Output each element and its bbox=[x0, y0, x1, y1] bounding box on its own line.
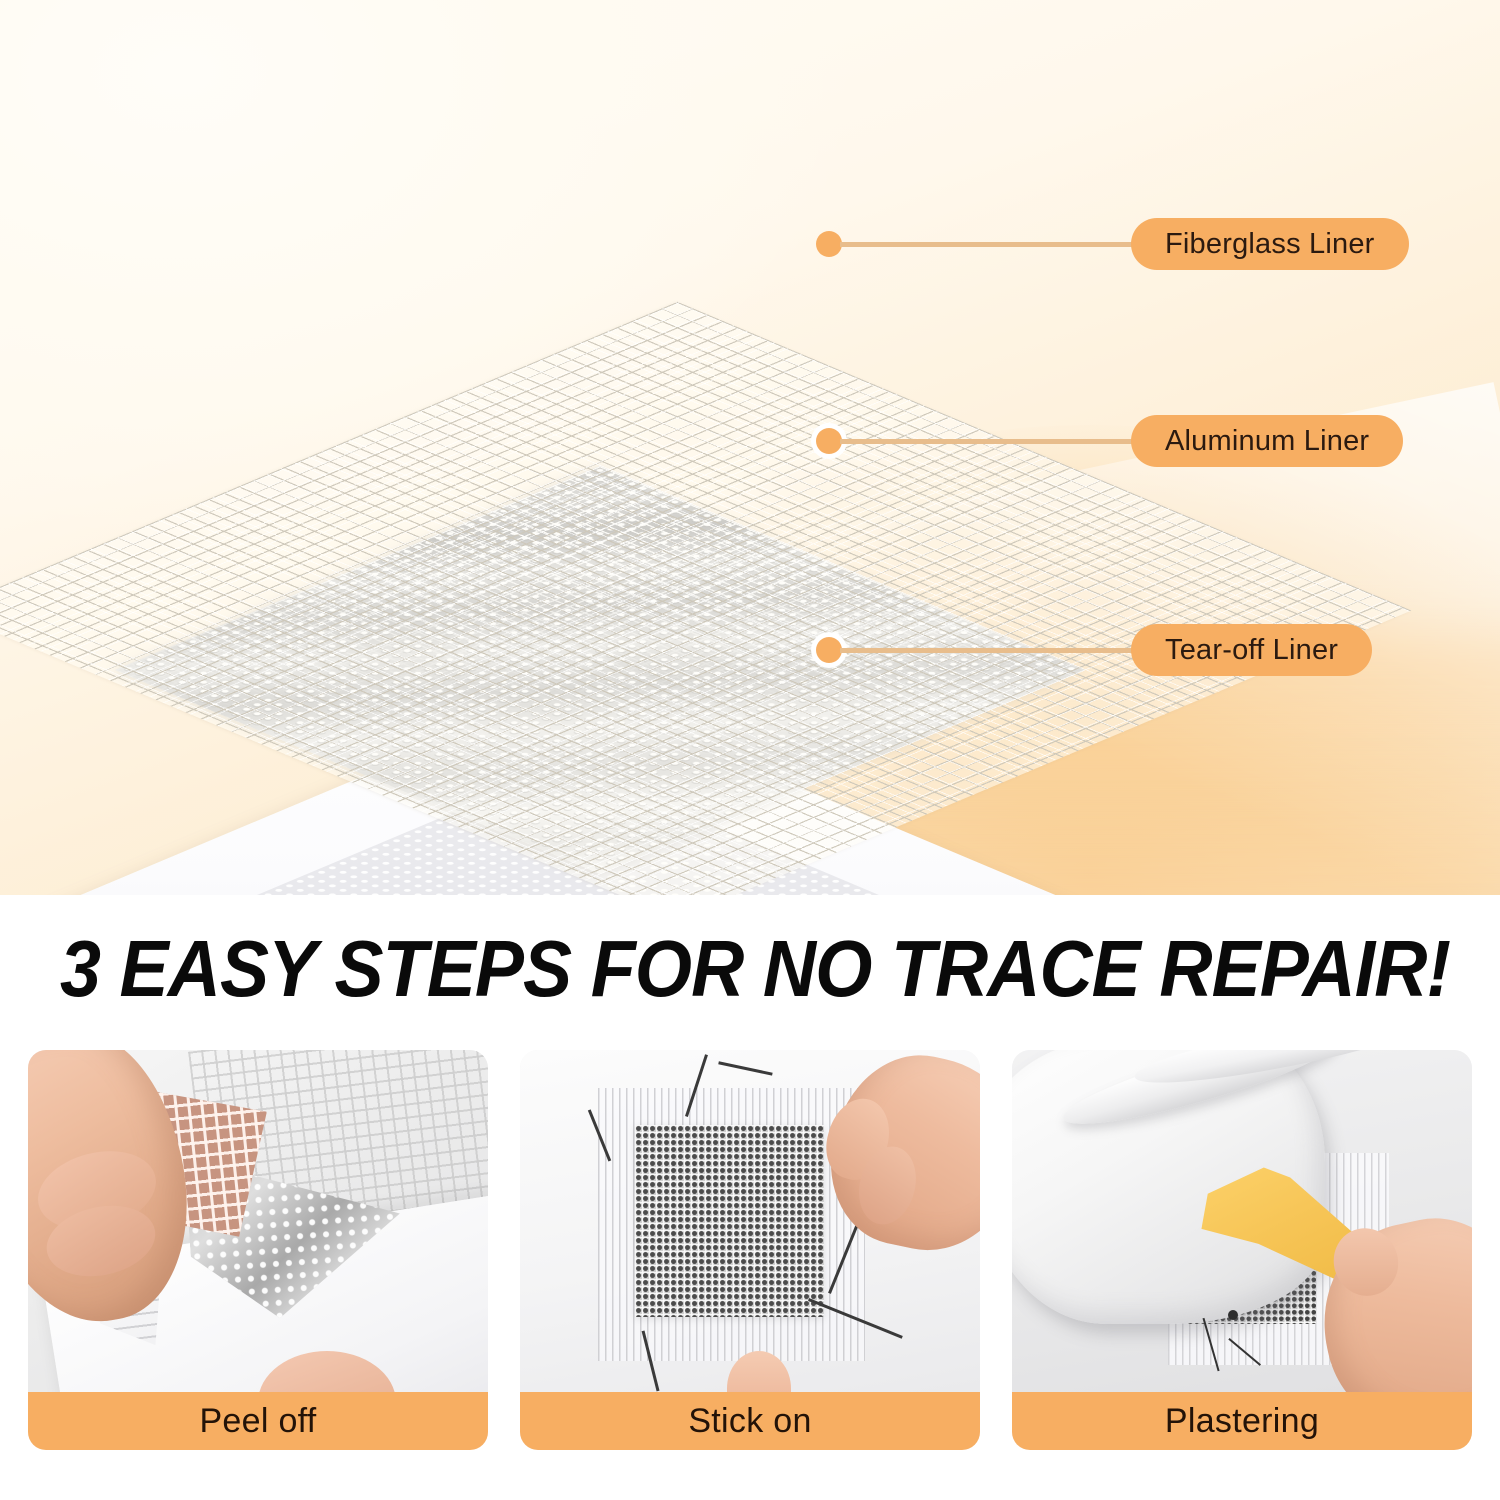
callout-leader-line bbox=[840, 439, 1133, 444]
callout-fiberglass-liner: Fiberglass Liner bbox=[816, 218, 1409, 270]
steps-headline: 3 EASY STEPS FOR NO TRACE REPAIR! bbox=[60, 923, 1440, 1015]
step-caption-plastering: Plastering bbox=[1012, 1392, 1472, 1450]
callout-label-tear-off-liner: Tear-off Liner bbox=[1131, 624, 1372, 676]
callout-leader-line bbox=[840, 242, 1133, 247]
callout-dot-icon bbox=[816, 428, 842, 454]
step-photo-plastering bbox=[1012, 1050, 1472, 1392]
callout-tear-off-liner: Tear-off Liner bbox=[816, 624, 1372, 676]
step-panel-stick-on: Stick on bbox=[520, 1050, 980, 1450]
step-photo-peel-off bbox=[28, 1050, 488, 1392]
step-caption-peel-off: Peel off bbox=[28, 1392, 488, 1450]
step-photo-stick-on bbox=[520, 1050, 980, 1392]
product-infographic: Fiberglass Liner Aluminum Liner Tear-off… bbox=[0, 0, 1500, 1500]
callout-dot-icon bbox=[816, 637, 842, 663]
steps-panel-row: Peel off Stick on bbox=[28, 1050, 1480, 1450]
wall-crack bbox=[718, 1061, 773, 1075]
step-panel-plastering: Plastering bbox=[1012, 1050, 1472, 1450]
callout-label-aluminum-liner: Aluminum Liner bbox=[1131, 415, 1403, 467]
callout-label-fiberglass-liner: Fiberglass Liner bbox=[1131, 218, 1409, 270]
steps-section: 3 EASY STEPS FOR NO TRACE REPAIR! Peel o… bbox=[0, 895, 1500, 1500]
mesh-patch-center bbox=[635, 1125, 824, 1317]
step-caption-stick-on: Stick on bbox=[520, 1392, 980, 1450]
callout-leader-line bbox=[840, 648, 1133, 653]
exploded-layers-hero: Fiberglass Liner Aluminum Liner Tear-off… bbox=[0, 0, 1500, 895]
callout-aluminum-liner: Aluminum Liner bbox=[816, 415, 1403, 467]
callout-dot-icon bbox=[816, 231, 842, 257]
step-panel-peel-off: Peel off bbox=[28, 1050, 488, 1450]
